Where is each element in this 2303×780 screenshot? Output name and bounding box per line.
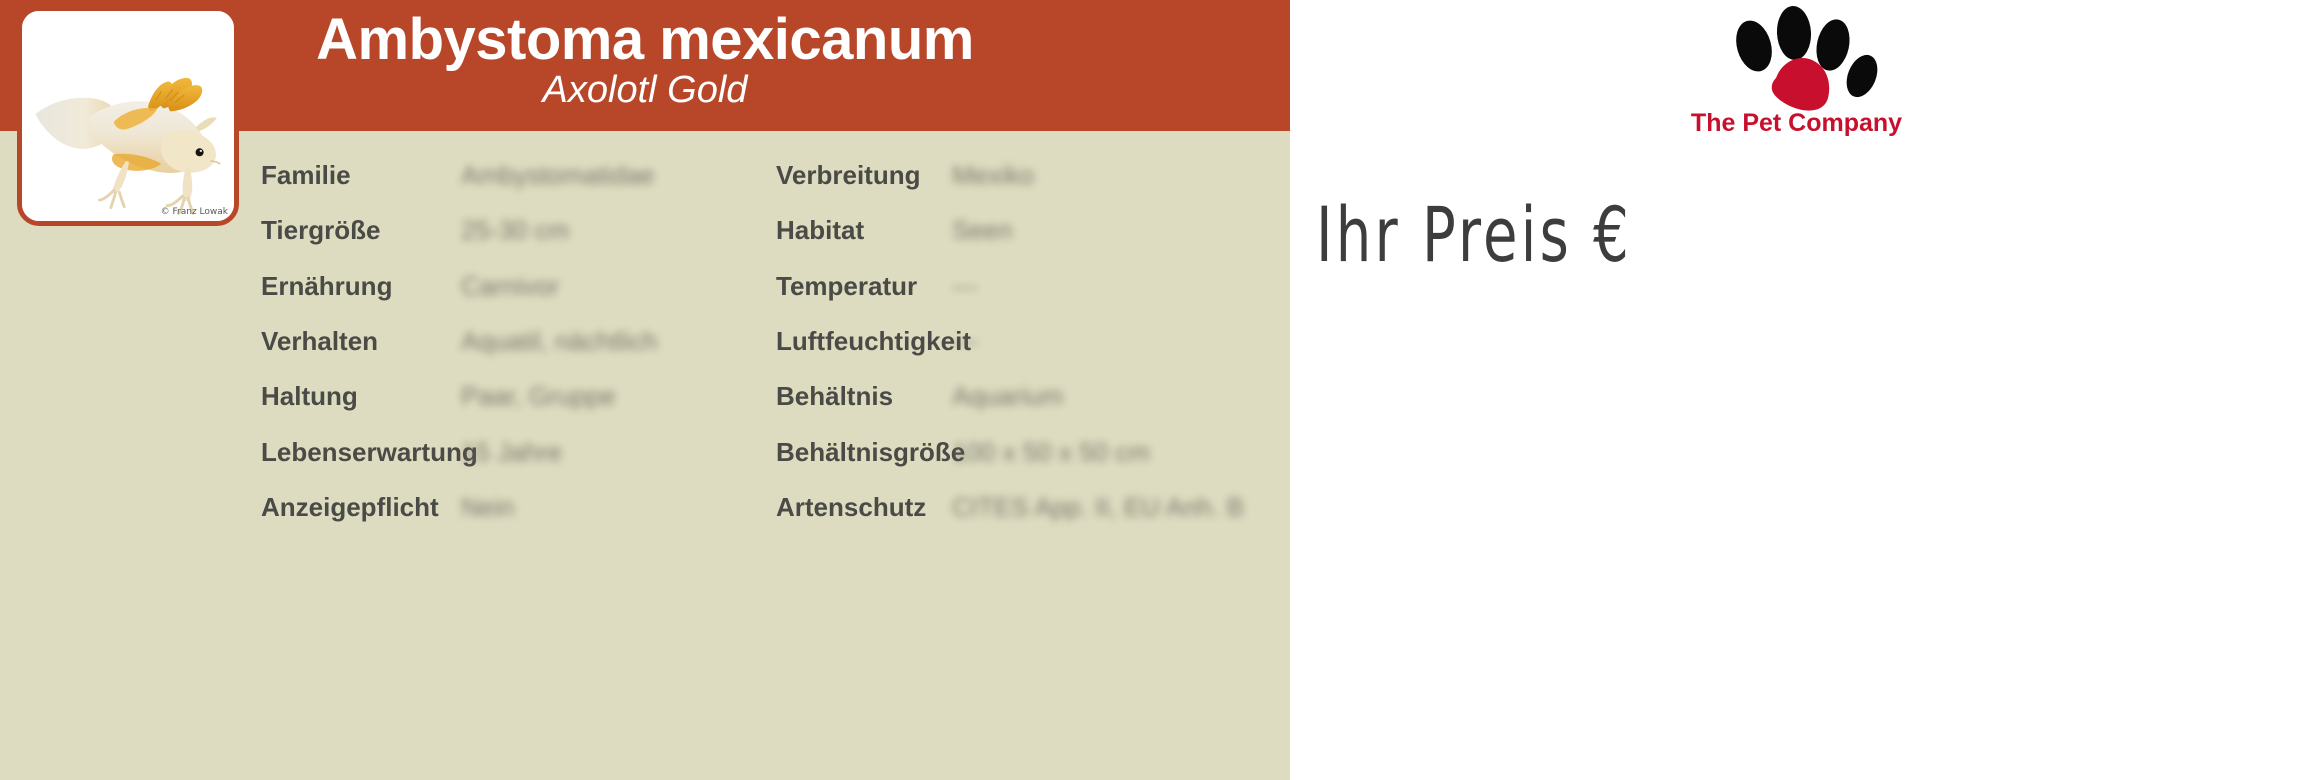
paw-print-icon: [1702, 6, 1892, 111]
attribute-row-familie: Familie Ambystomatidae: [261, 148, 776, 203]
attribute-label: Behältnisgröße: [776, 437, 952, 468]
attribute-label: Lebenserwartung: [261, 437, 461, 468]
attribute-label: Behältnis: [776, 381, 952, 412]
price-line: Ihr Preis €: [1316, 190, 2276, 279]
attribute-label: Artenschutz: [776, 492, 952, 523]
attribute-label: Tiergröße: [261, 215, 461, 246]
attribute-row-verhalten: Verhalten Aquatil, nächtlich: [261, 314, 776, 369]
attribute-row-behaeltnisgroesse: Behältnisgröße 100 x 50 x 50 cm: [776, 424, 1290, 479]
attribute-value: Mexiko: [952, 160, 1034, 191]
attribute-row-ernaehrung: Ernährung Carnivor: [261, 259, 776, 314]
scientific-name: Ambystoma mexicanum: [316, 9, 974, 71]
attribute-label: Luftfeuchtigkeit: [776, 326, 952, 357]
attribute-label: Ernährung: [261, 271, 461, 302]
attribute-value: Paar, Gruppe: [461, 381, 616, 412]
price-panel: The Pet Company Ihr Preis €: [1290, 0, 2303, 780]
attribute-label: Verhalten: [261, 326, 461, 357]
attribute-label: Familie: [261, 160, 461, 191]
attribute-label: Habitat: [776, 215, 952, 246]
attribute-row-verbreitung: Verbreitung Mexiko: [776, 148, 1290, 203]
attribute-value: Aquarium: [952, 381, 1063, 412]
attribute-row-behaeltnis: Behältnis Aquarium: [776, 369, 1290, 424]
attribute-value: 25-30 cm: [461, 215, 569, 246]
attribute-row-luftfeuchtigkeit: Luftfeuchtigkeit ---: [776, 314, 1290, 369]
attribute-value: 15 Jahre: [461, 437, 562, 468]
attribute-value: 100 x 50 x 50 cm: [952, 437, 1150, 468]
attribute-label: Anzeigepflicht: [261, 492, 461, 523]
attribute-table: Familie Ambystomatidae Tiergröße 25-30 c…: [0, 131, 1290, 780]
info-panel: Ambystoma mexicanum Axolotl Gold: [0, 0, 1290, 780]
attribute-value: Nein: [461, 492, 514, 523]
brand-logo: The Pet Company: [1632, 4, 1962, 144]
column-top-spacer: [776, 131, 1290, 148]
attribute-label: Temperatur: [776, 271, 952, 302]
attribute-row-temperatur: Temperatur ---: [776, 259, 1290, 314]
common-name: Axolotl Gold: [543, 69, 748, 111]
attribute-value: Ambystomatidae: [461, 160, 655, 191]
animal-info-label: Ambystoma mexicanum Axolotl Gold: [0, 0, 2303, 780]
attribute-value: CITES App. II, EU Anh. B: [952, 492, 1244, 523]
attribute-column-right: Verbreitung Mexiko Habitat Seen Temperat…: [776, 131, 1290, 535]
attribute-row-habitat: Habitat Seen: [776, 203, 1290, 258]
attribute-column-left: Familie Ambystomatidae Tiergröße 25-30 c…: [261, 131, 776, 535]
attribute-value: Aquatil, nächtlich: [461, 326, 658, 357]
attribute-value: ---: [952, 271, 978, 302]
attribute-row-haltung: Haltung Paar, Gruppe: [261, 369, 776, 424]
attribute-label: Haltung: [261, 381, 461, 412]
brand-name: The Pet Company: [1691, 109, 1902, 138]
attribute-row-lebenserwartung: Lebenserwartung 15 Jahre: [261, 424, 776, 479]
attribute-label: Verbreitung: [776, 160, 952, 191]
attribute-row-artenschutz: Artenschutz CITES App. II, EU Anh. B: [776, 480, 1290, 535]
column-top-spacer: [261, 131, 776, 148]
attribute-row-tiergroesse: Tiergröße 25-30 cm: [261, 203, 776, 258]
attribute-value: ---: [952, 326, 978, 357]
attribute-value: Carnivor: [461, 271, 559, 302]
attribute-value: Seen: [952, 215, 1013, 246]
attribute-row-anzeigepflicht: Anzeigepflicht Nein: [261, 480, 776, 535]
price-label: Ihr Preis €: [1316, 190, 1632, 279]
